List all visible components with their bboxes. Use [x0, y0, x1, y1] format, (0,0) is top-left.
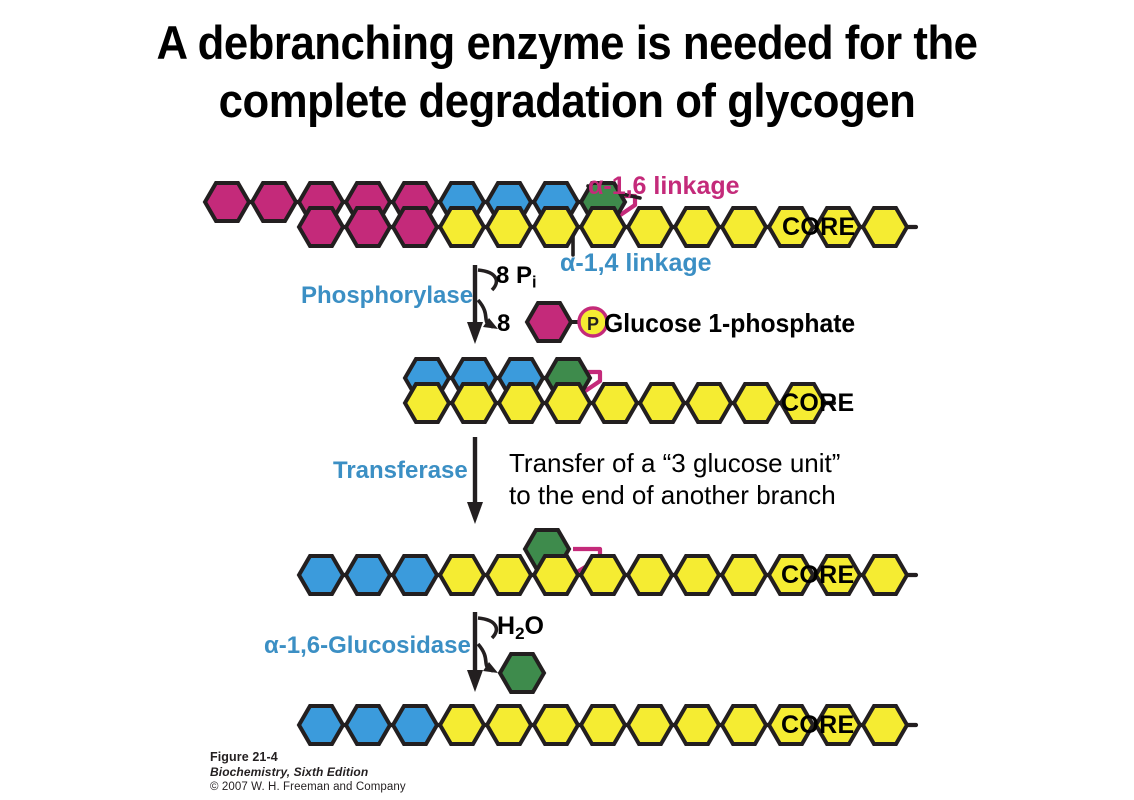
residue-hex-yellow	[628, 556, 672, 594]
residue-hex-yellow	[534, 706, 578, 744]
residue-hex-yellow	[581, 556, 625, 594]
residue-hex-magenta	[205, 183, 249, 221]
residue-hex-yellow	[863, 556, 907, 594]
residue-hex-yellow	[734, 384, 778, 422]
phosphate-reactant-label: 8 Pi	[496, 262, 537, 293]
figure-credit: Figure 21-4 Biochemistry, Sixth Edition …	[210, 750, 406, 793]
phosphate-badge-letter: P	[587, 314, 599, 334]
residue-hex-yellow	[534, 556, 578, 594]
residue-hex-yellow	[675, 208, 719, 246]
residue-hex-yellow	[722, 556, 766, 594]
stage-2-core-row	[405, 384, 825, 422]
alpha-1-6-linkage-label: α-1,6 linkage	[588, 172, 740, 201]
residue-hex-yellow	[675, 706, 719, 744]
glucose-1-phosphate-label: Glucose 1-phosphate	[604, 308, 855, 339]
residue-hex-yellow	[452, 384, 496, 422]
copyright-notice: © 2007 W. H. Freeman and Company	[210, 781, 406, 793]
phosphorylase-label: Phosphorylase	[301, 282, 473, 310]
residue-hex-yellow	[546, 384, 590, 422]
residue-hex-yellow	[722, 208, 766, 246]
residue-hex-yellow	[640, 384, 684, 422]
residue-hex-yellow	[440, 706, 484, 744]
book-title: Biochemistry, Sixth Edition	[210, 765, 406, 779]
core-label: CORE	[782, 213, 855, 242]
alpha-1-4-linkage-label: α-1,4 linkage	[560, 249, 712, 278]
residue-hex-magenta	[346, 208, 390, 246]
residue-hex-magenta	[299, 208, 343, 246]
figure-number: Figure 21-4	[210, 750, 406, 764]
residue-hex-yellow	[628, 706, 672, 744]
residue-hex-yellow	[581, 208, 625, 246]
core-label: CORE	[781, 561, 854, 590]
residue-hex-yellow	[863, 706, 907, 744]
diagram-canvas: P	[0, 0, 1134, 800]
residue-hex-yellow	[440, 208, 484, 246]
residue-hex-yellow	[628, 208, 672, 246]
residue-hex-magenta	[393, 208, 437, 246]
residue-hex-blue	[299, 556, 343, 594]
core-label: CORE	[781, 711, 854, 740]
transferase-label: Transferase	[333, 457, 468, 485]
glucosidase-reactant-curve	[478, 618, 496, 638]
residue-hex-blue	[393, 706, 437, 744]
core-label: CORE	[781, 389, 854, 418]
residue-hex-blue	[346, 556, 390, 594]
alpha-1-6-glucosidase-label: α-1,6-Glucosidase	[264, 632, 471, 660]
residue-hex-yellow	[440, 556, 484, 594]
glycogen-degradation-diagram: P	[0, 0, 1134, 800]
glucose-1-phosphate-hexagon	[527, 303, 571, 341]
residue-hex-yellow	[487, 556, 531, 594]
residue-hex-blue	[346, 706, 390, 744]
residue-hex-blue	[393, 556, 437, 594]
water-label: H2O	[497, 612, 544, 644]
residue-hex-yellow	[593, 384, 637, 422]
residue-hex-magenta	[252, 183, 296, 221]
transferase-arrow	[467, 437, 483, 524]
product-count-label: 8	[497, 310, 510, 338]
residue-hex-yellow	[499, 384, 543, 422]
residue-hex-yellow	[405, 384, 449, 422]
residue-hex-yellow	[534, 208, 578, 246]
released-glucose-hexagon	[500, 654, 544, 692]
residue-hex-yellow	[487, 208, 531, 246]
residue-hex-yellow	[863, 208, 907, 246]
residue-hex-yellow	[722, 706, 766, 744]
transfer-description: Transfer of a “3 glucose unit” to the en…	[509, 447, 840, 511]
residue-hex-blue	[299, 706, 343, 744]
residue-hex-yellow	[581, 706, 625, 744]
residue-hex-yellow	[675, 556, 719, 594]
phosphorylase-reactant-curve	[478, 270, 496, 290]
residue-hex-yellow	[487, 706, 531, 744]
residue-hex-yellow	[687, 384, 731, 422]
